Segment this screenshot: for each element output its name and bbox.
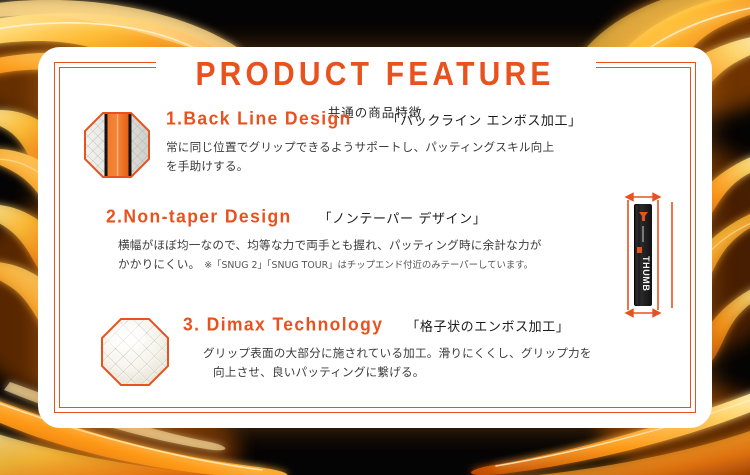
product-feature-card: PRODUCT FEATURE 共通の商品特徴 [38,47,712,428]
feature-1-body: 常に同じ位置でグリップできるようサポートし、パッティングスキル向上 を手助けする… [166,138,686,176]
feature-2-body-line1: 横幅がほぼ均一なので、均等な力で両手とも握れ、パッティング時に余計な力が [118,236,606,255]
feature-2: 2.Non-taper Design 「ノンテーパー デザイン」 横幅がほぼ均一… [106,207,606,274]
page-title: PRODUCT FEATURE [38,56,712,94]
feature-1-body-line2: を手助けする。 [166,157,686,176]
svg-text:THUMB: THUMB [641,256,651,292]
octagon-backline-icon [83,111,151,179]
feature-2-heading: 2.Non-taper Design 「ノンテーパー デザイン」 [106,207,606,228]
feature-3-heading-jp: 「格子状のエンボス加工」 [406,316,569,335]
feature-2-body: 横幅がほぼ均一なので、均等な力で両手とも握れ、パッティング時に余計な力が かかり… [106,236,606,274]
feature-1-heading: 1.Back Line Design 「バックライン エンボス加工」 [166,109,686,130]
feature-1-heading-jp: 「バックライン エンボス加工」 [387,110,582,129]
octagon-dimax-icon [100,317,170,387]
feature-2-heading-jp: 「ノンテーパー デザイン」 [319,208,487,227]
feature-3-heading-en: 3. Dimax Technology [183,314,383,336]
feature-3-body-line1: グリップ表面の大部分に施されている加工。滑りにくくし、グリップ力を [203,344,683,363]
feature-1-heading-en: 1.Back Line Design [166,108,352,130]
screenshot-stage: PRODUCT FEATURE 共通の商品特徴 [0,0,750,475]
feature-1: 1.Back Line Design 「バックライン エンボス加工」 常に同じ位… [166,109,686,176]
grip-width-diagram: THUMB [620,190,678,320]
feature-1-body-line1: 常に同じ位置でグリップできるようサポートし、パッティングスキル向上 [166,138,686,157]
feature-2-heading-en: 2.Non-taper Design [106,206,292,228]
feature-3-heading: 3. Dimax Technology 「格子状のエンボス加工」 [183,315,683,336]
feature-2-body-line2: かかりにくい。 [118,257,200,271]
feature-3: 3. Dimax Technology 「格子状のエンボス加工」 グリップ表面の… [183,315,683,382]
feature-3-body: グリップ表面の大部分に施されている加工。滑りにくくし、グリップ力を 向上させ、良… [183,344,683,382]
feature-2-note: ※「SNUG 2」「SNUG TOUR」はチップエンド付近のみテーパーしています… [204,260,533,271]
feature-3-body-line2: 向上させ、良いパッティングに繋げる。 [203,363,683,382]
